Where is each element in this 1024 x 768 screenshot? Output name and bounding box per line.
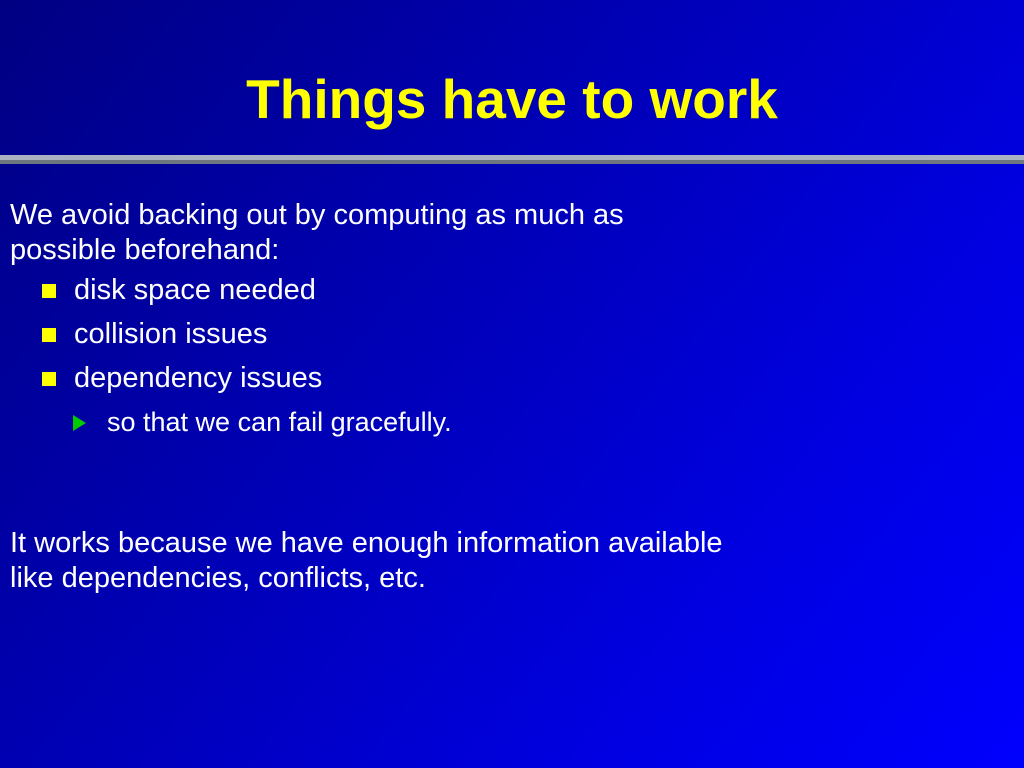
list-item-label: collision issues (74, 318, 267, 350)
list-item-sub: so that we can fail gracefully. (10, 400, 1010, 444)
title-divider (0, 155, 1024, 164)
divider-dark-rule (0, 160, 1024, 164)
slide-title-area: Things have to work (0, 68, 1024, 130)
square-bullet-icon (42, 328, 56, 342)
list-item: collision issues (10, 312, 1010, 356)
square-bullet-icon (42, 284, 56, 298)
list-item-label: so that we can fail gracefully. (107, 407, 452, 437)
list-item-label: disk space needed (74, 274, 316, 306)
list-item: dependency issues (10, 356, 1010, 400)
intro-line-1: We avoid backing out by computing as muc… (10, 198, 1010, 233)
closing-line-1: It works because we have enough informat… (10, 526, 1010, 561)
slide-body: We avoid backing out by computing as muc… (10, 198, 1010, 444)
square-bullet-icon (42, 372, 56, 386)
list-item-label: dependency issues (74, 362, 322, 394)
closing-line-2: like dependencies, conflicts, etc. (10, 561, 1010, 596)
page-title: Things have to work (0, 68, 1024, 130)
presentation-slide: Things have to work We avoid backing out… (0, 0, 1024, 768)
slide-closing-text: It works because we have enough informat… (10, 526, 1010, 596)
bullet-list: disk space needed collision issues depen… (10, 268, 1010, 444)
intro-line-2: possible beforehand: (10, 233, 1010, 268)
triangle-bullet-icon (73, 415, 86, 431)
list-item: disk space needed (10, 268, 1010, 312)
